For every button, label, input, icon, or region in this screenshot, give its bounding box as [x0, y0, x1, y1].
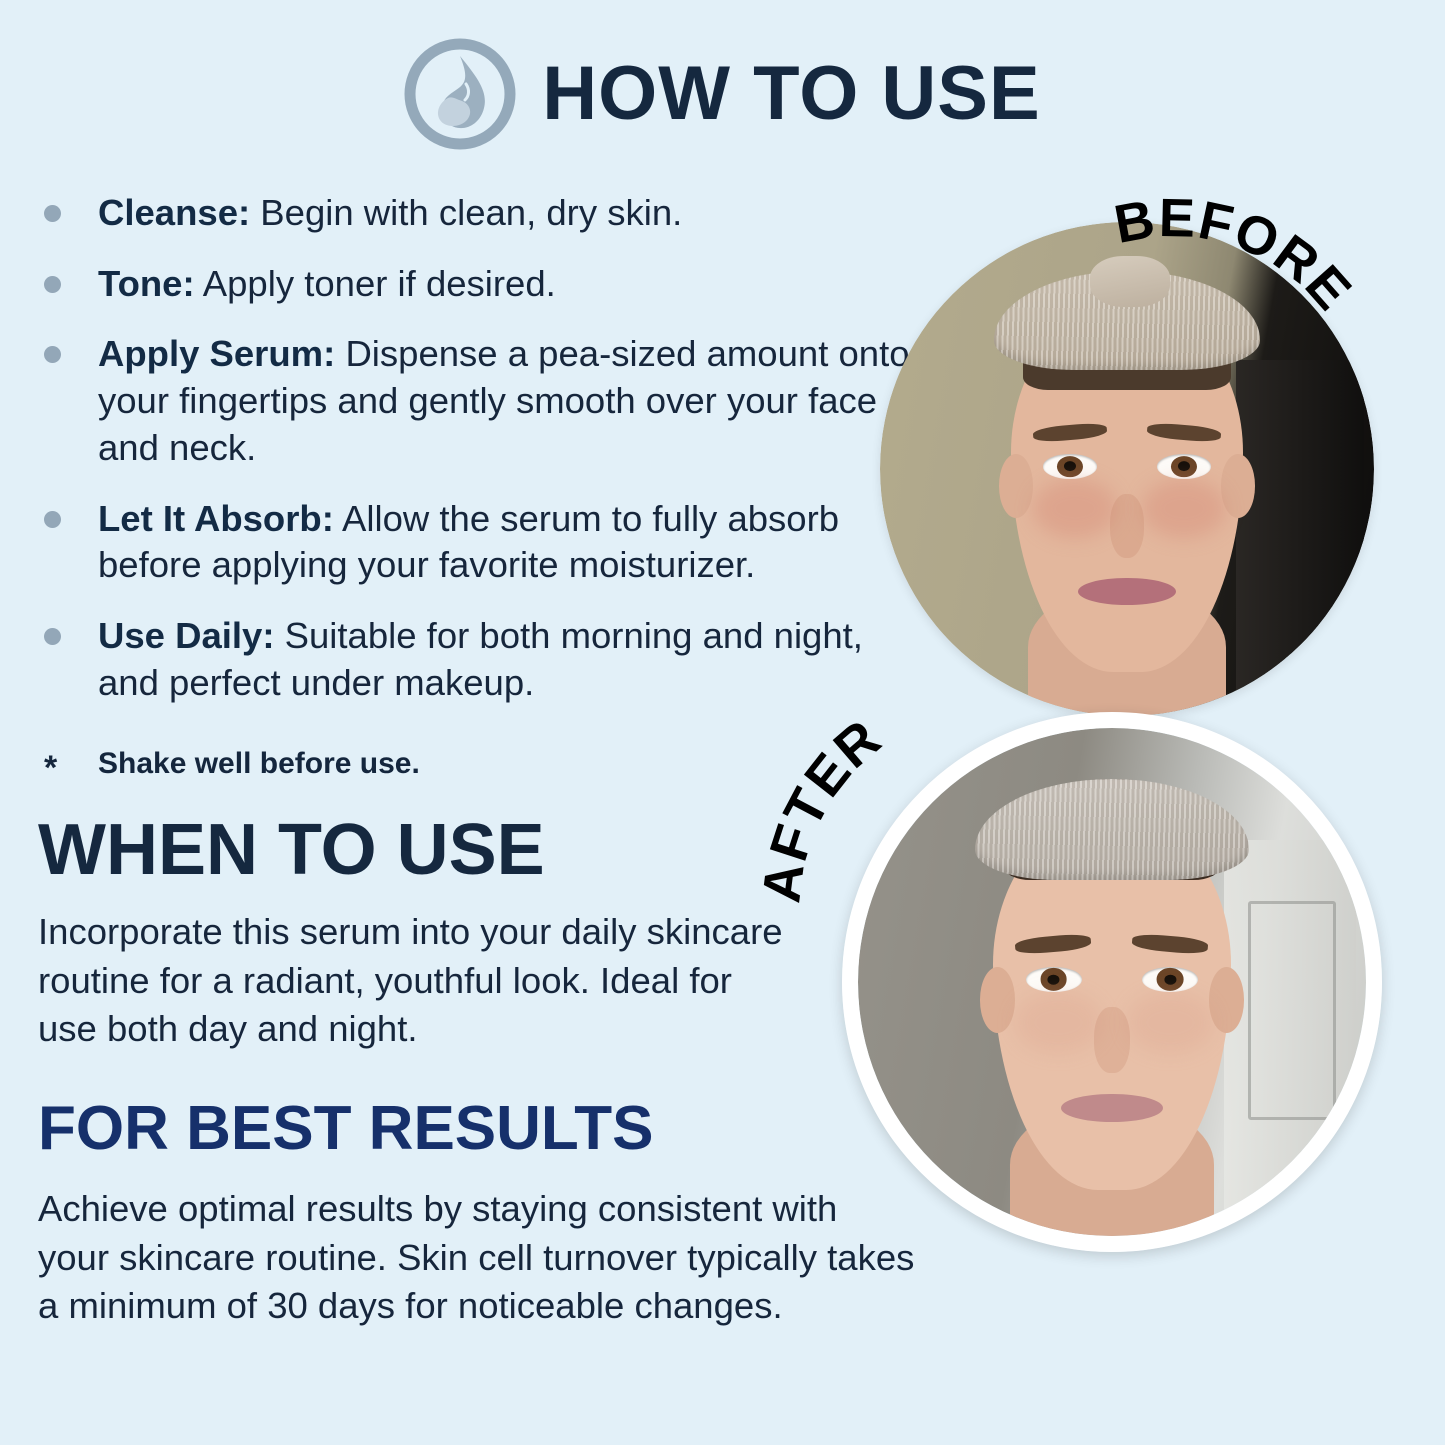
eye-left	[1043, 454, 1097, 479]
page-title: HOW TO USE	[542, 56, 1040, 132]
step-term: Let It Absorb:	[98, 498, 334, 539]
lips	[1061, 1094, 1163, 1122]
step-term: Tone:	[98, 263, 195, 304]
list-item: Cleanse: Begin with clean, dry skin.	[38, 190, 918, 237]
shake-well-note: * Shake well before use.	[38, 746, 798, 782]
section-body-when-to-use: Incorporate this serum into your daily s…	[38, 908, 798, 1054]
list-item: Let It Absorb: Allow the serum to fully …	[38, 496, 918, 589]
door-panel	[1248, 901, 1335, 1120]
doorway	[1236, 360, 1364, 716]
list-item: Apply Serum: Dispense a pea-sized amount…	[38, 331, 918, 471]
bullet-icon	[44, 205, 61, 222]
note-text: Shake well before use.	[98, 747, 420, 780]
cheek-left	[1015, 992, 1101, 1053]
section-heading-when-to-use: WHEN TO USE	[38, 814, 545, 886]
iris-left	[1057, 456, 1083, 478]
ear-right	[1209, 967, 1245, 1033]
iris-right	[1171, 456, 1197, 478]
iris-right	[1157, 968, 1184, 990]
step-term: Cleanse:	[98, 192, 250, 233]
step-term: Apply Serum:	[98, 333, 335, 374]
bullet-icon	[44, 511, 61, 528]
step-term: Use Daily:	[98, 615, 275, 656]
step-text: Begin with clean, dry skin.	[250, 192, 682, 233]
before-label: BEFORE	[1105, 150, 1445, 380]
asterisk-icon: *	[44, 748, 57, 789]
cheek-right	[1127, 992, 1213, 1053]
droplet-emblem-icon	[404, 38, 516, 150]
bullet-icon	[44, 628, 61, 645]
section-heading-for-best-results: FOR BEST RESULTS	[38, 1098, 653, 1160]
bullet-icon	[44, 276, 61, 293]
cheek-right	[1142, 479, 1226, 538]
nose	[1110, 494, 1145, 558]
before-label-text: BEFORE	[1110, 188, 1364, 322]
bullet-icon	[44, 346, 61, 363]
ear-left	[999, 454, 1034, 518]
eye-right	[1157, 454, 1211, 479]
step-text: Apply toner if desired.	[195, 263, 556, 304]
cheek-left	[1033, 479, 1117, 538]
iris-left	[1040, 968, 1067, 990]
eye-left	[1026, 967, 1082, 992]
after-label-text: AFTER	[751, 708, 892, 906]
page-header: HOW TO USE	[0, 38, 1445, 150]
instruction-list: Cleanse: Begin with clean, dry skin. Ton…	[38, 190, 918, 730]
eye-right	[1142, 967, 1198, 992]
nose	[1094, 1007, 1130, 1073]
infographic-page: HOW TO USE Cleanse: Begin with clean, dr…	[0, 0, 1445, 1445]
section-body-for-best-results: Achieve optimal results by staying consi…	[38, 1185, 918, 1331]
after-label: AFTER	[770, 690, 1050, 930]
list-item: Tone: Apply toner if desired.	[38, 261, 918, 308]
ear-left	[980, 967, 1016, 1033]
